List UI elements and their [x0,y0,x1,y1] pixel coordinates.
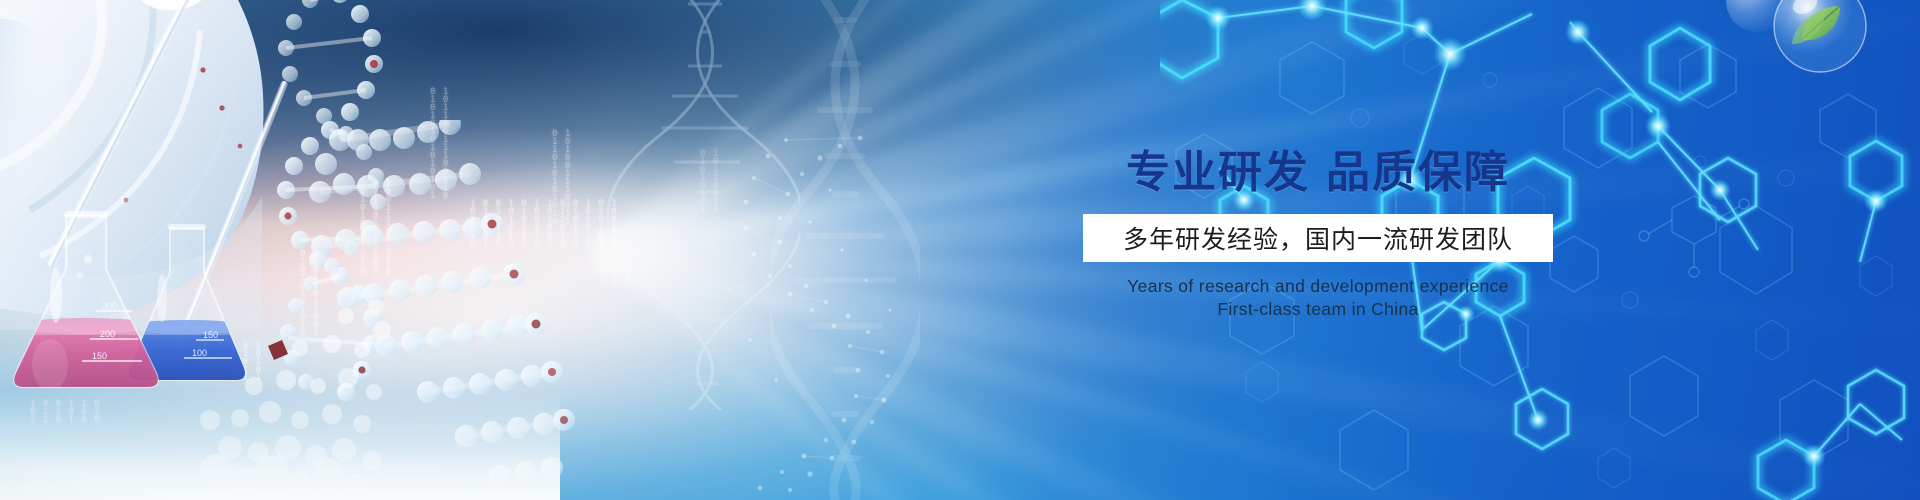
flask-marking: 200 [100,329,115,339]
dna-icon [770,0,920,500]
hero-banner: 0 1 0 1 1 0 0 1 1 1 0 0 0 1 0 1 1 1 0 0 … [0,0,1920,500]
banner-copy: 专业研发品质保障 多年研发经验，国内一流研发团队 Years of resear… [1083,150,1553,321]
subtitle-ribbon: 多年研发经验，国内一流研发团队 [1083,214,1553,262]
headline-part-1: 专业研发 [1126,148,1310,197]
english-subtitle: Years of research and development experi… [1083,275,1553,321]
binary-icon: 1 0 0 1 0 1 1 0 0 1 0 1 0 1 1 0 1 0 0 1 … [470,200,618,248]
binary-icon: 0 1 1 0 0 1 1 1 0 0 1 0 0 1 1 1 [700,150,719,214]
scientist-icon [0,0,264,330]
english-line-1: Years of research and development experi… [1083,275,1553,298]
leaf-bubble-icon [1772,0,1868,74]
page-title: 专业研发品质保障 [1083,150,1553,197]
subtitle-text: 多年研发经验，国内一流研发团队 [1123,220,1513,256]
headline-part-2: 品质保障 [1326,148,1510,197]
binary-icon: 0 1 1 0 0 1 1 1 0 0 1 0 0 1 1 1 0 1 1 0 … [430,88,449,200]
binary-icon: 1 0 1 0 1 0 1 1 1 0 0 1 1 0 0 0 1 1 1 1 … [600,230,632,286]
binary-icon: 0 1 1 0 1 1 0 0 1 0 0 1 1 1 0 1 1 0 0 0 … [552,130,571,226]
table-surface [0,390,560,500]
flask-marking: 150 [92,351,107,361]
flask-marking: 300 [102,301,117,311]
english-line-2: First-class team in China [1083,298,1553,321]
